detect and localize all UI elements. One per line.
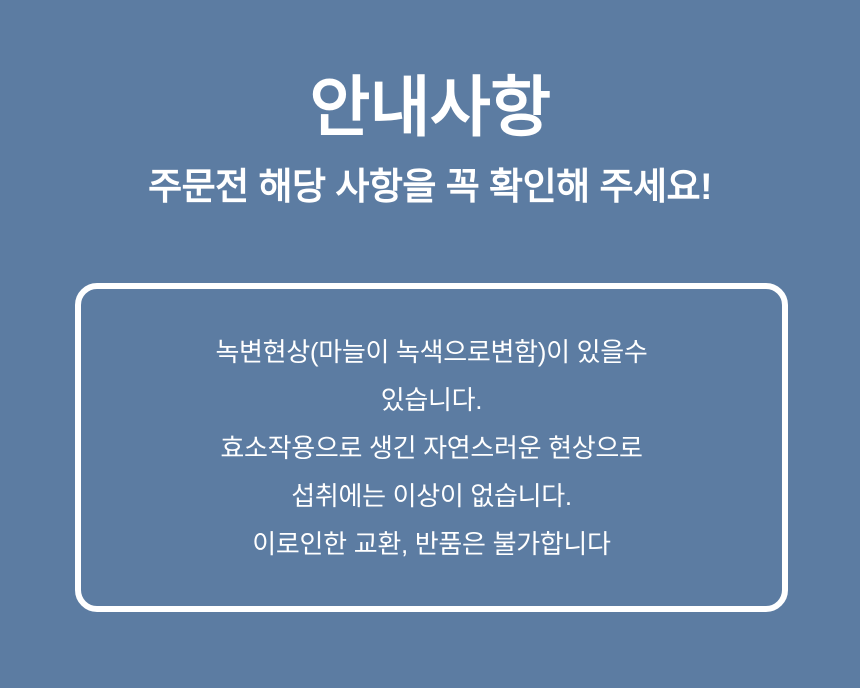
notice-banner: 안내사항 주문전 해당 사항을 꼭 확인해 주세요! 녹변현상(마늘이 녹색으로…	[0, 0, 860, 688]
notice-body-text: 녹변현상(마늘이 녹색으로변함)이 있을수 있습니다. 효소작용으로 생긴 자연…	[81, 328, 782, 568]
notice-line: 녹변현상(마늘이 녹색으로변함)이 있을수	[105, 328, 758, 376]
notice-detail-box: 녹변현상(마늘이 녹색으로변함)이 있을수 있습니다. 효소작용으로 생긴 자연…	[75, 283, 788, 612]
page-title: 안내사항	[0, 74, 860, 140]
notice-line: 있습니다.	[105, 376, 758, 424]
notice-subtitle: 주문전 해당 사항을 꼭 확인해 주세요!	[0, 168, 860, 205]
notice-line: 이로인한 교환, 반품은 불가합니다	[105, 520, 758, 568]
notice-line: 섭취에는 이상이 없습니다.	[105, 472, 758, 520]
notice-line: 효소작용으로 생긴 자연스러운 현상으로	[105, 424, 758, 472]
